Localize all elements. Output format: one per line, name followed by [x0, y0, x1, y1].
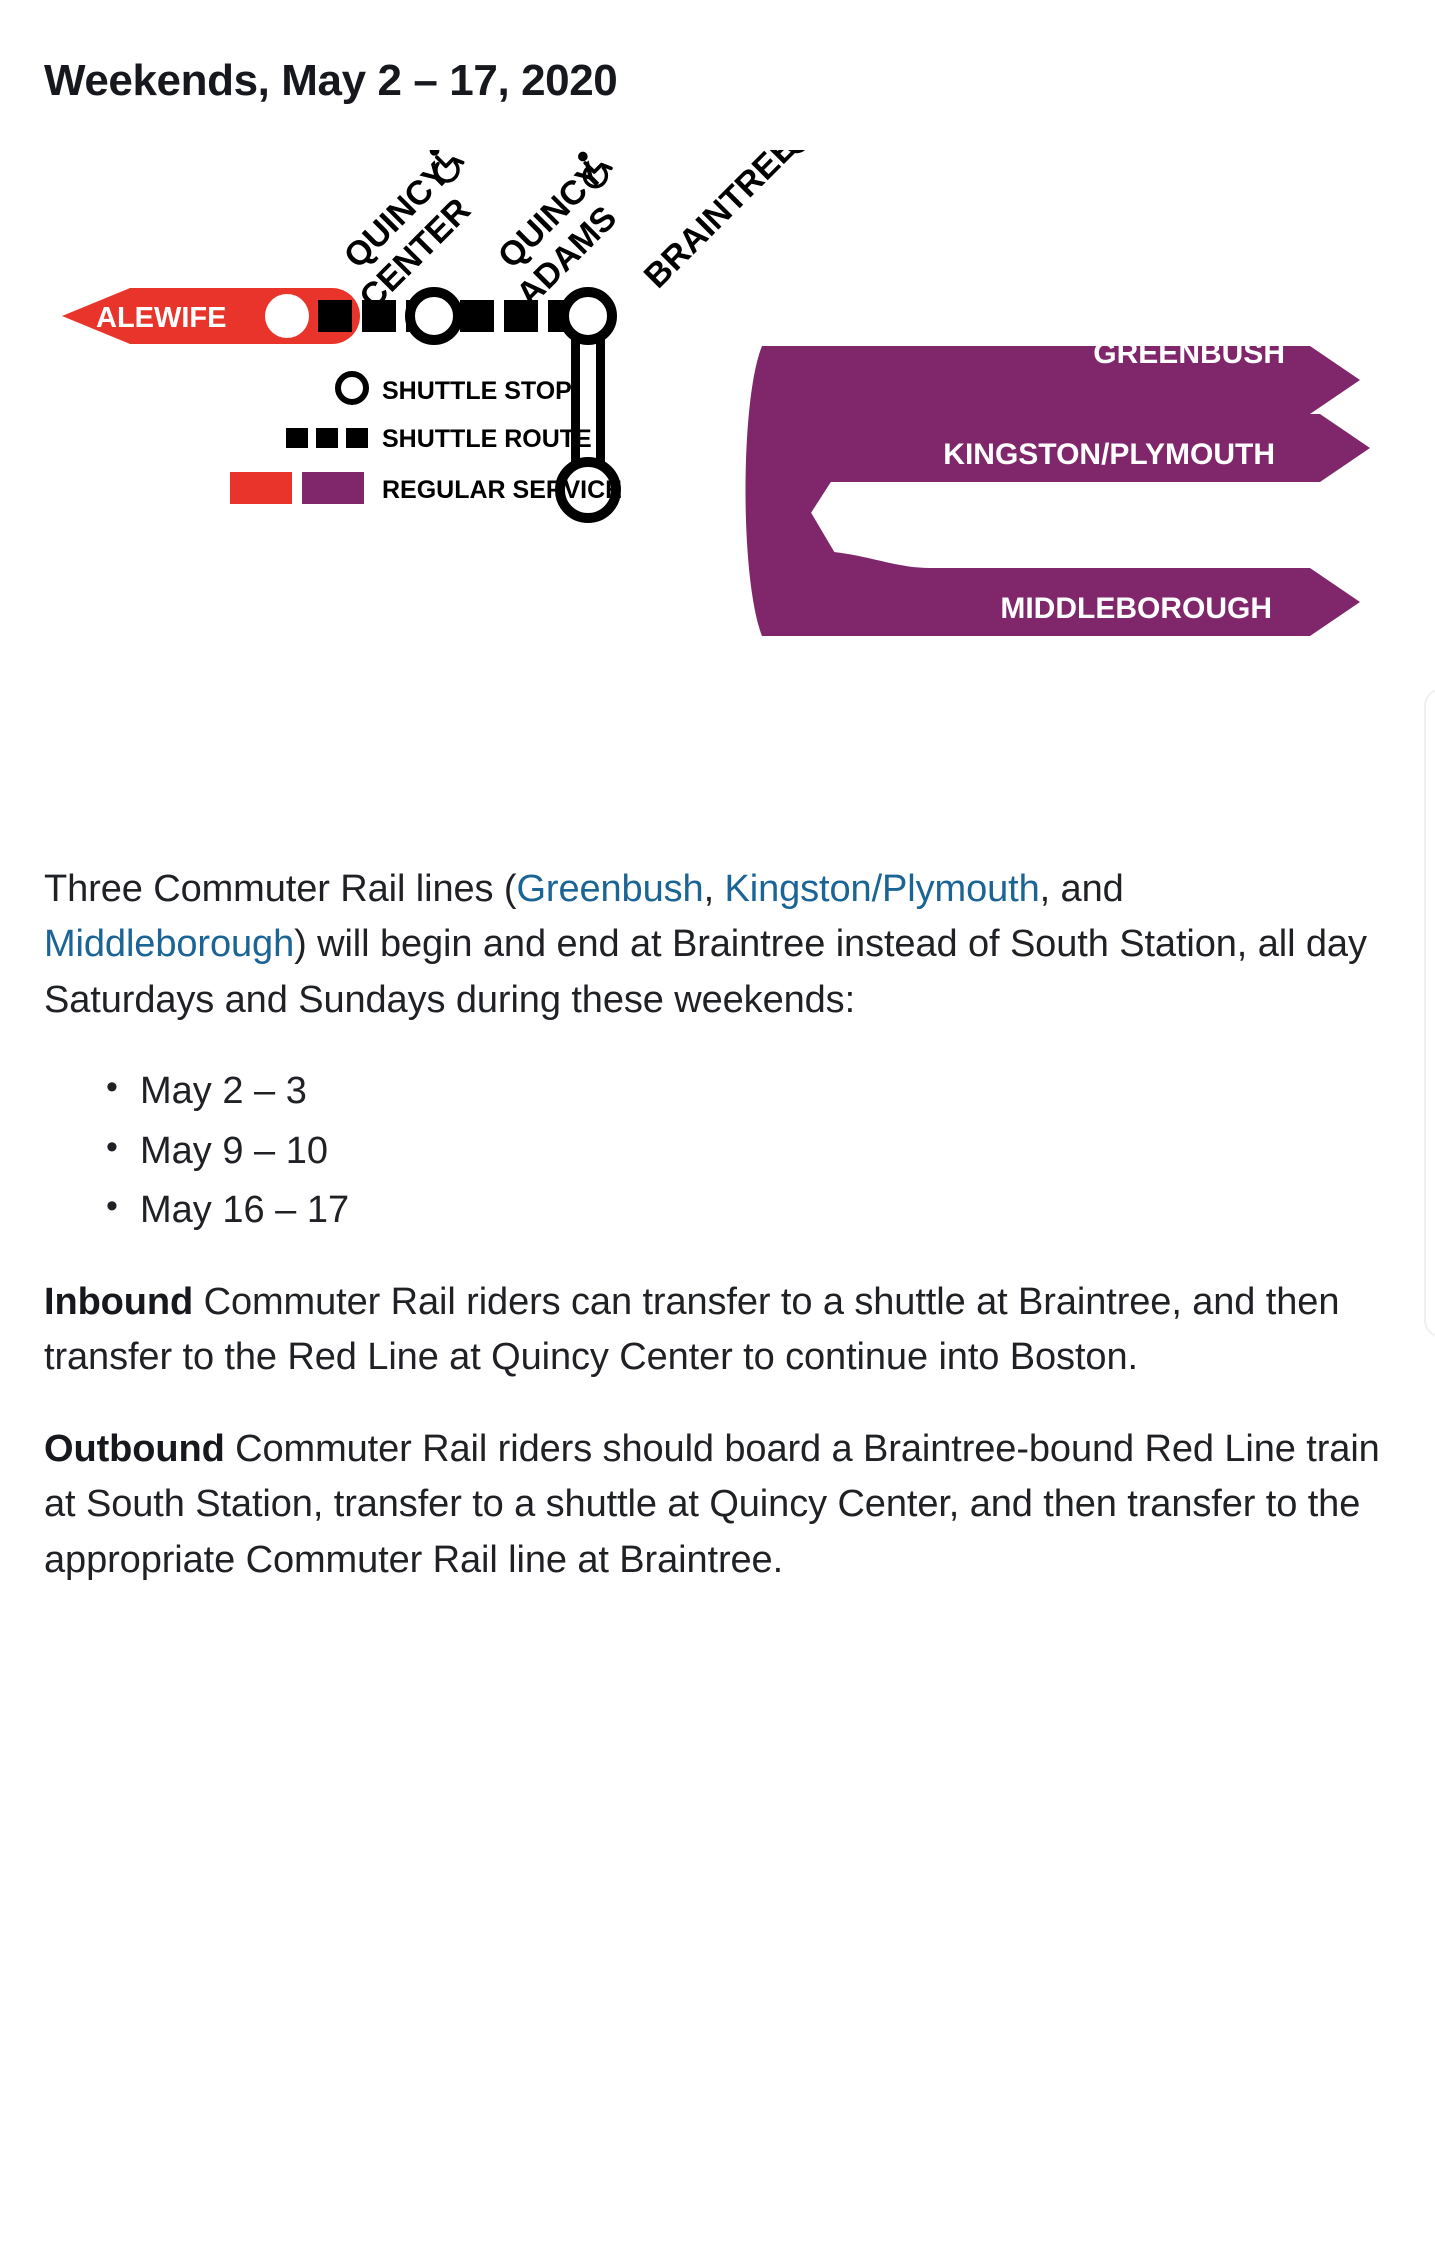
- terminus-label: ALEWIFE: [96, 302, 227, 334]
- service-diagram: QUINCY CENTER QUINCY ADAMS: [0, 150, 1435, 800]
- branch-label-middleborough: MIDDLEBOROUGH: [1000, 592, 1272, 625]
- station-node-quincy-center: [265, 294, 309, 338]
- intro-part-1: Three Commuter Rail lines (: [44, 868, 516, 910]
- link-kingston-plymouth[interactable]: Kingston/Plymouth: [724, 868, 1039, 910]
- list-item: May 16 – 17: [140, 1183, 1394, 1238]
- weekend-dates-list: May 2 – 3 May 9 – 10 May 16 – 17: [44, 1064, 1394, 1238]
- diagram-svg: QUINCY CENTER QUINCY ADAMS: [0, 150, 1435, 800]
- intro-paragraph: Three Commuter Rail lines (Greenbush, Ki…: [44, 862, 1389, 1028]
- legend-dashed-squares-icon: [286, 428, 368, 448]
- station-label-quincy-adams: QUINCY ADAMS: [477, 150, 646, 314]
- outbound-text: Commuter Rail riders should board a Brai…: [44, 1428, 1380, 1581]
- inbound-text: Commuter Rail riders can transfer to a s…: [44, 1281, 1339, 1378]
- station-label-quincy-center: QUINCY CENTER: [321, 150, 498, 317]
- link-greenbush[interactable]: Greenbush: [516, 868, 703, 910]
- legend-label-shuttle-route: SHUTTLE ROUTE: [382, 425, 592, 453]
- branch-trunk: [746, 346, 801, 636]
- diagram-legend: SHUTTLE STOP SHUTTLE ROUTE REGULAR SERVI…: [230, 374, 622, 504]
- list-item: May 2 – 3: [140, 1064, 1394, 1119]
- legend-circle-outline-icon: [338, 374, 366, 402]
- station-node-quincy-adams: [410, 292, 458, 340]
- commuter-rail-branches: [746, 330, 1371, 636]
- legend-label-shuttle-stop: SHUTTLE STOP: [382, 377, 572, 405]
- intro-part-2: ,: [704, 868, 725, 910]
- list-item: May 9 – 10: [140, 1124, 1394, 1179]
- inbound-lead: Inbound: [44, 1281, 193, 1323]
- station-label-braintree: BRAINTREE: [633, 150, 819, 296]
- inbound-paragraph: Inbound Commuter Rail riders can transfe…: [44, 1275, 1389, 1386]
- article-body: Three Commuter Rail lines (Greenbush, Ki…: [44, 862, 1394, 1588]
- outbound-paragraph: Outbound Commuter Rail riders should boa…: [44, 1422, 1389, 1588]
- intro-part-3: , and: [1040, 868, 1124, 910]
- station-label-line1: BRAINTREE: [637, 150, 804, 296]
- legend-label-regular-service: REGULAR SERVICE: [382, 476, 622, 504]
- legend-color-swatches-icon: [230, 472, 364, 504]
- branch-label-kingston: KINGSTON/PLYMOUTH: [943, 438, 1275, 471]
- branch-label-greenbush: GREENBUSH: [1093, 337, 1285, 370]
- alewife-arrow: ALEWIFE: [62, 288, 360, 344]
- link-middleborough[interactable]: Middleborough: [44, 923, 294, 965]
- page-title: Weekends, May 2 – 17, 2020: [44, 56, 617, 106]
- outbound-lead: Outbound: [44, 1428, 225, 1470]
